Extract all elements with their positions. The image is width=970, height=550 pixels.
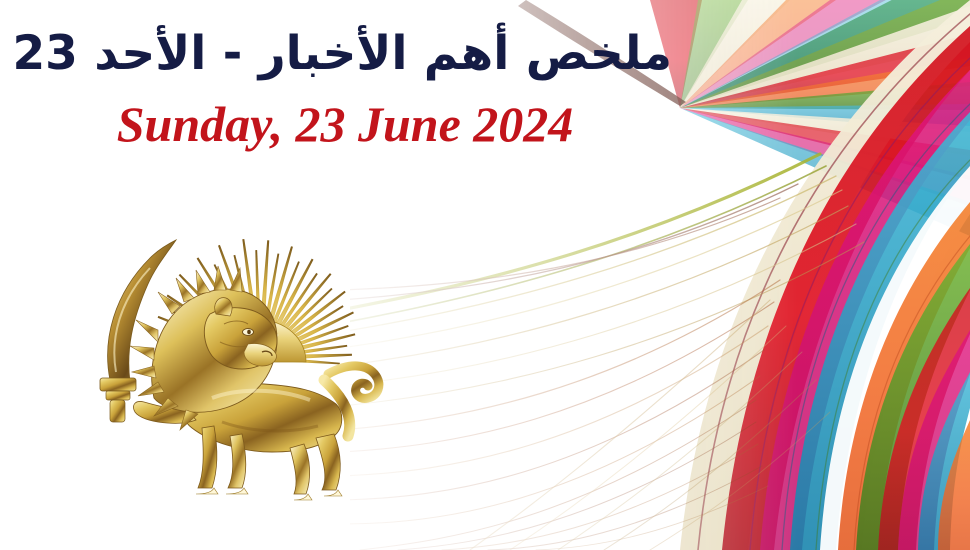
english-date-line: Sunday, 23 June 2024	[18, 97, 672, 152]
arabic-headline: ملخص أهم الأخبار - الأحد 23 يونيو	[18, 26, 672, 81]
headline-block: ملخص أهم الأخبار - الأحد 23 يونيو Sunday…	[0, 26, 700, 152]
lion-figure	[130, 266, 379, 500]
news-summary-banner: ملخص أهم الأخبار - الأحد 23 يونيو Sunday…	[0, 0, 970, 550]
lion-and-sun-emblem	[92, 222, 392, 504]
